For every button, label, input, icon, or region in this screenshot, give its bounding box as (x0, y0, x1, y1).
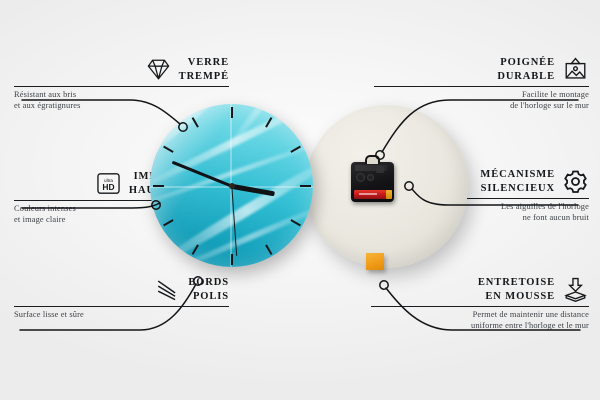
connector-lines (0, 0, 600, 400)
infographic-canvas: VERRE TREMPÉ Résistant aux bris et aux é… (0, 0, 600, 400)
